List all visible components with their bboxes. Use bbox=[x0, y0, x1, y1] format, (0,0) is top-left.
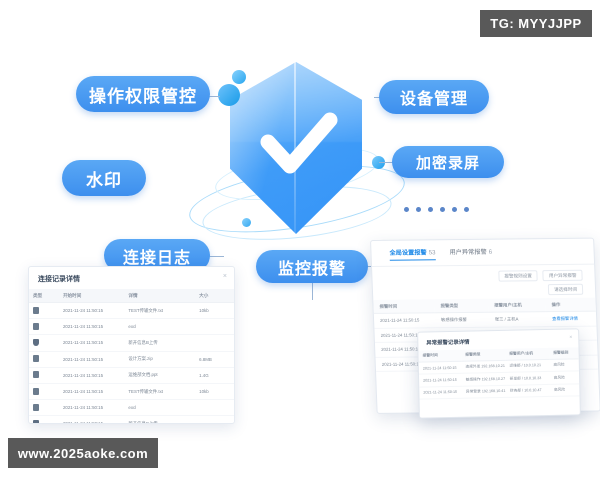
decor-dot bbox=[416, 207, 421, 212]
detail-cell-target: 研发部 / 10.0.10.33 bbox=[506, 372, 550, 385]
alarm-col-action: 操作 bbox=[545, 298, 596, 312]
log-cell-type bbox=[29, 351, 59, 367]
log-cell-size: 6.8MB bbox=[195, 351, 234, 367]
upload-icon bbox=[33, 339, 39, 346]
table-row: 2021-11-24 11:50:15异常登录 192.168.10.41财务部… bbox=[419, 384, 579, 400]
decorative-dot-large bbox=[218, 84, 240, 106]
log-col-size: 大小 bbox=[195, 289, 234, 303]
alarm-col-target: 报警用户/主机 bbox=[488, 298, 546, 312]
log-cell-detail: TEST传输文件.txt bbox=[124, 383, 195, 399]
alarm-cell-target: 张三 / 主机A bbox=[488, 312, 546, 327]
decor-dot bbox=[464, 207, 469, 212]
decorative-dot-row bbox=[404, 207, 469, 212]
file-icon bbox=[33, 388, 39, 395]
log-cell-type bbox=[29, 416, 59, 424]
pill-label: 设备管理 bbox=[400, 85, 468, 109]
log-cell-detail: 运维部文档.ppt bbox=[124, 367, 195, 383]
alarm-rule-settings-button[interactable]: 报警规则设置 bbox=[498, 270, 538, 281]
alarm-detail-dialog: 异常报警记录详情 × 报警时间 报警类型 报警用户/主机 报警级别 2021-1… bbox=[417, 328, 581, 418]
detail-cell-type: 异常登录 192.168.10.41 bbox=[462, 385, 506, 398]
alarm-tab-bar: 全局设置报警53 用户异常报警6 bbox=[371, 239, 594, 267]
log-table-header: 类型 开始时间 详情 大小 bbox=[29, 289, 234, 303]
log-cell-detail: excl bbox=[124, 319, 195, 335]
decor-dot bbox=[452, 207, 457, 212]
detail-table-body: 2021-11-24 11:50:15违规外发 192.168.10.21运维部… bbox=[419, 359, 580, 399]
log-cell-detail: 设计方案.zip bbox=[124, 351, 195, 367]
file-icon bbox=[33, 404, 39, 411]
hero-shield-graphic bbox=[196, 56, 396, 246]
log-cell-time: 2021-11-24 11:50:15 bbox=[59, 303, 124, 319]
decorative-dot-medium bbox=[232, 70, 246, 84]
detail-table: 报警时间 报警类型 报警用户/主机 报警级别 2021-11-24 11:50:… bbox=[419, 347, 580, 399]
detail-cell-time: 2021-11-24 11:50:15 bbox=[419, 374, 462, 387]
detail-col-level: 报警级别 bbox=[549, 347, 579, 359]
pill-label: 监控报警 bbox=[278, 255, 346, 279]
table-row: 2021-11-24 11:50:15TEST传输文件.txt10kb bbox=[29, 303, 234, 319]
detail-cell-type: 违规外发 192.168.10.21 bbox=[461, 360, 505, 373]
log-cell-type bbox=[29, 319, 59, 335]
file-icon bbox=[33, 355, 39, 362]
connection-log-card: 连接记录详情 × 类型 开始时间 详情 大小 2021-11-24 11:50:… bbox=[28, 266, 235, 424]
log-cell-size bbox=[195, 335, 234, 351]
log-cell-size: 1.4G bbox=[195, 367, 234, 383]
log-cell-type bbox=[29, 400, 59, 416]
detail-cell-time: 2021-11-24 11:50:15 bbox=[419, 361, 462, 374]
table-row: 2021-11-24 11:50:15excl bbox=[29, 400, 234, 416]
log-col-type: 类型 bbox=[29, 289, 59, 303]
log-cell-detail: excl bbox=[124, 400, 195, 416]
log-cell-detail: TEST传输文件.txt bbox=[124, 303, 195, 319]
user-alarm-button[interactable]: 用户异常报警 bbox=[543, 270, 583, 281]
feature-pill-alarm[interactable]: 监控报警 bbox=[256, 250, 368, 283]
tab-label: 用户异常报警 bbox=[449, 249, 486, 256]
detail-cell-level: 高风险 bbox=[550, 384, 580, 397]
pill-label: 水印 bbox=[86, 166, 122, 191]
view-detail-link[interactable]: 查看报警详情 bbox=[552, 316, 578, 321]
file-icon bbox=[33, 323, 39, 330]
decor-dot bbox=[440, 207, 445, 212]
infographic-canvas: 操作权限管控 设备管理 水印 加密录屏 连接日志 监控报警 连接记录详情 × 类… bbox=[0, 0, 600, 480]
table-row: 2021-11-24 11:50:15新开信息B上传 bbox=[29, 416, 234, 424]
log-cell-type bbox=[29, 303, 59, 319]
log-cell-time: 2021-11-24 11:50:15 bbox=[59, 335, 124, 351]
log-cell-time: 2021-11-24 11:50:15 bbox=[59, 351, 124, 367]
feature-pill-permission[interactable]: 操作权限管控 bbox=[76, 76, 210, 112]
log-col-detail: 详情 bbox=[124, 289, 195, 303]
detail-col-type: 报警类型 bbox=[461, 349, 505, 361]
alarm-cell-time: 2021-11-24 11:50:15 bbox=[374, 313, 436, 328]
log-cell-detail: 新开信息B上传 bbox=[124, 416, 195, 424]
detail-cell-level: 高风险 bbox=[550, 371, 580, 384]
log-cell-time: 2021-11-24 11:50:15 bbox=[59, 367, 124, 383]
tab-user-alarm[interactable]: 用户异常报警6 bbox=[449, 247, 492, 260]
pill-label: 操作权限管控 bbox=[89, 82, 197, 107]
log-table: 类型 开始时间 详情 大小 2021-11-24 11:50:15TEST传输文… bbox=[29, 289, 234, 424]
log-cell-detail: 新开信息B上传 bbox=[124, 335, 195, 351]
log-cell-time: 2021-11-24 11:50:15 bbox=[59, 319, 124, 335]
table-row: 2021-11-24 11:50:15TEST传输文件.txt10kb bbox=[29, 383, 234, 399]
table-row: 2021-11-24 11:50:15新开信息B上传 bbox=[29, 335, 234, 351]
close-icon[interactable]: × bbox=[223, 273, 227, 280]
log-cell-size: 10kb bbox=[195, 303, 234, 319]
log-cell-size: 10kb bbox=[195, 383, 234, 399]
alarm-cell-type: 敏感操作报警 bbox=[435, 312, 489, 327]
feature-pill-watermark[interactable]: 水印 bbox=[62, 160, 146, 196]
log-cell-size bbox=[195, 416, 234, 424]
log-cell-time: 2021-11-24 11:50:15 bbox=[59, 416, 124, 424]
log-cell-type bbox=[29, 367, 59, 383]
alarm-col-type: 报警类型 bbox=[434, 299, 488, 313]
detail-cell-type: 敏感操作 192.168.10.27 bbox=[462, 373, 506, 386]
log-cell-type bbox=[29, 335, 59, 351]
tab-count: 53 bbox=[429, 249, 436, 256]
feature-pill-record[interactable]: 加密录屏 bbox=[392, 146, 504, 178]
file-icon bbox=[33, 371, 39, 378]
pill-label: 加密录屏 bbox=[416, 152, 480, 173]
detail-cell-target: 财务部 / 10.0.10.47 bbox=[506, 384, 550, 397]
checkmark-icon bbox=[230, 62, 362, 234]
table-row: 2021-11-24 11:50:15运维部文档.ppt1.4G bbox=[29, 367, 234, 383]
table-row: 2021-11-24 11:50:15设计方案.zip6.8MB bbox=[29, 351, 234, 367]
watermark-bottom-left: www.2025aoke.com bbox=[8, 438, 158, 468]
table-row: 2021-11-24 11:50:15excl bbox=[29, 319, 234, 335]
alarm-panel-toolbar: 报警规则设置 用户异常报警 bbox=[372, 265, 595, 286]
detail-cell-target: 运维部 / 10.0.10.21 bbox=[505, 359, 549, 372]
log-card-title: 连接记录详情 bbox=[29, 267, 234, 289]
file-icon bbox=[33, 307, 39, 314]
log-table-body: 2021-11-24 11:50:15TEST传输文件.txt10kb2021-… bbox=[29, 303, 234, 425]
decorative-dot-small bbox=[242, 218, 251, 227]
log-cell-time: 2021-11-24 11:50:15 bbox=[59, 383, 124, 399]
log-cell-size bbox=[195, 319, 234, 335]
watermark-top-right: TG: MYYJJPP bbox=[480, 10, 592, 37]
feature-pill-device[interactable]: 设备管理 bbox=[379, 80, 489, 114]
decor-dot bbox=[428, 207, 433, 212]
log-col-time: 开始时间 bbox=[59, 289, 124, 303]
tab-label: 全局设置报警 bbox=[389, 249, 426, 256]
time-filter-select[interactable]: 请选择时间 bbox=[548, 284, 583, 295]
pill-label: 连接日志 bbox=[123, 244, 191, 268]
log-cell-type bbox=[29, 383, 59, 399]
decor-dot bbox=[404, 207, 409, 212]
detail-cell-time: 2021-11-24 11:50:15 bbox=[419, 386, 462, 399]
log-cell-size bbox=[195, 400, 234, 416]
tab-global-alarm[interactable]: 全局设置报警53 bbox=[389, 247, 436, 260]
close-icon[interactable]: × bbox=[569, 334, 572, 340]
alarm-cell-action: 查看报警详情 bbox=[546, 311, 597, 326]
detail-col-time: 报警时间 bbox=[419, 350, 462, 362]
tab-count: 6 bbox=[489, 249, 493, 256]
upload-icon bbox=[33, 420, 39, 424]
detail-col-target: 报警用户/主机 bbox=[505, 348, 549, 360]
detail-cell-level: 高风险 bbox=[549, 359, 579, 372]
log-cell-time: 2021-11-24 11:50:15 bbox=[59, 400, 124, 416]
alarm-col-time: 报警时间 bbox=[373, 299, 435, 313]
